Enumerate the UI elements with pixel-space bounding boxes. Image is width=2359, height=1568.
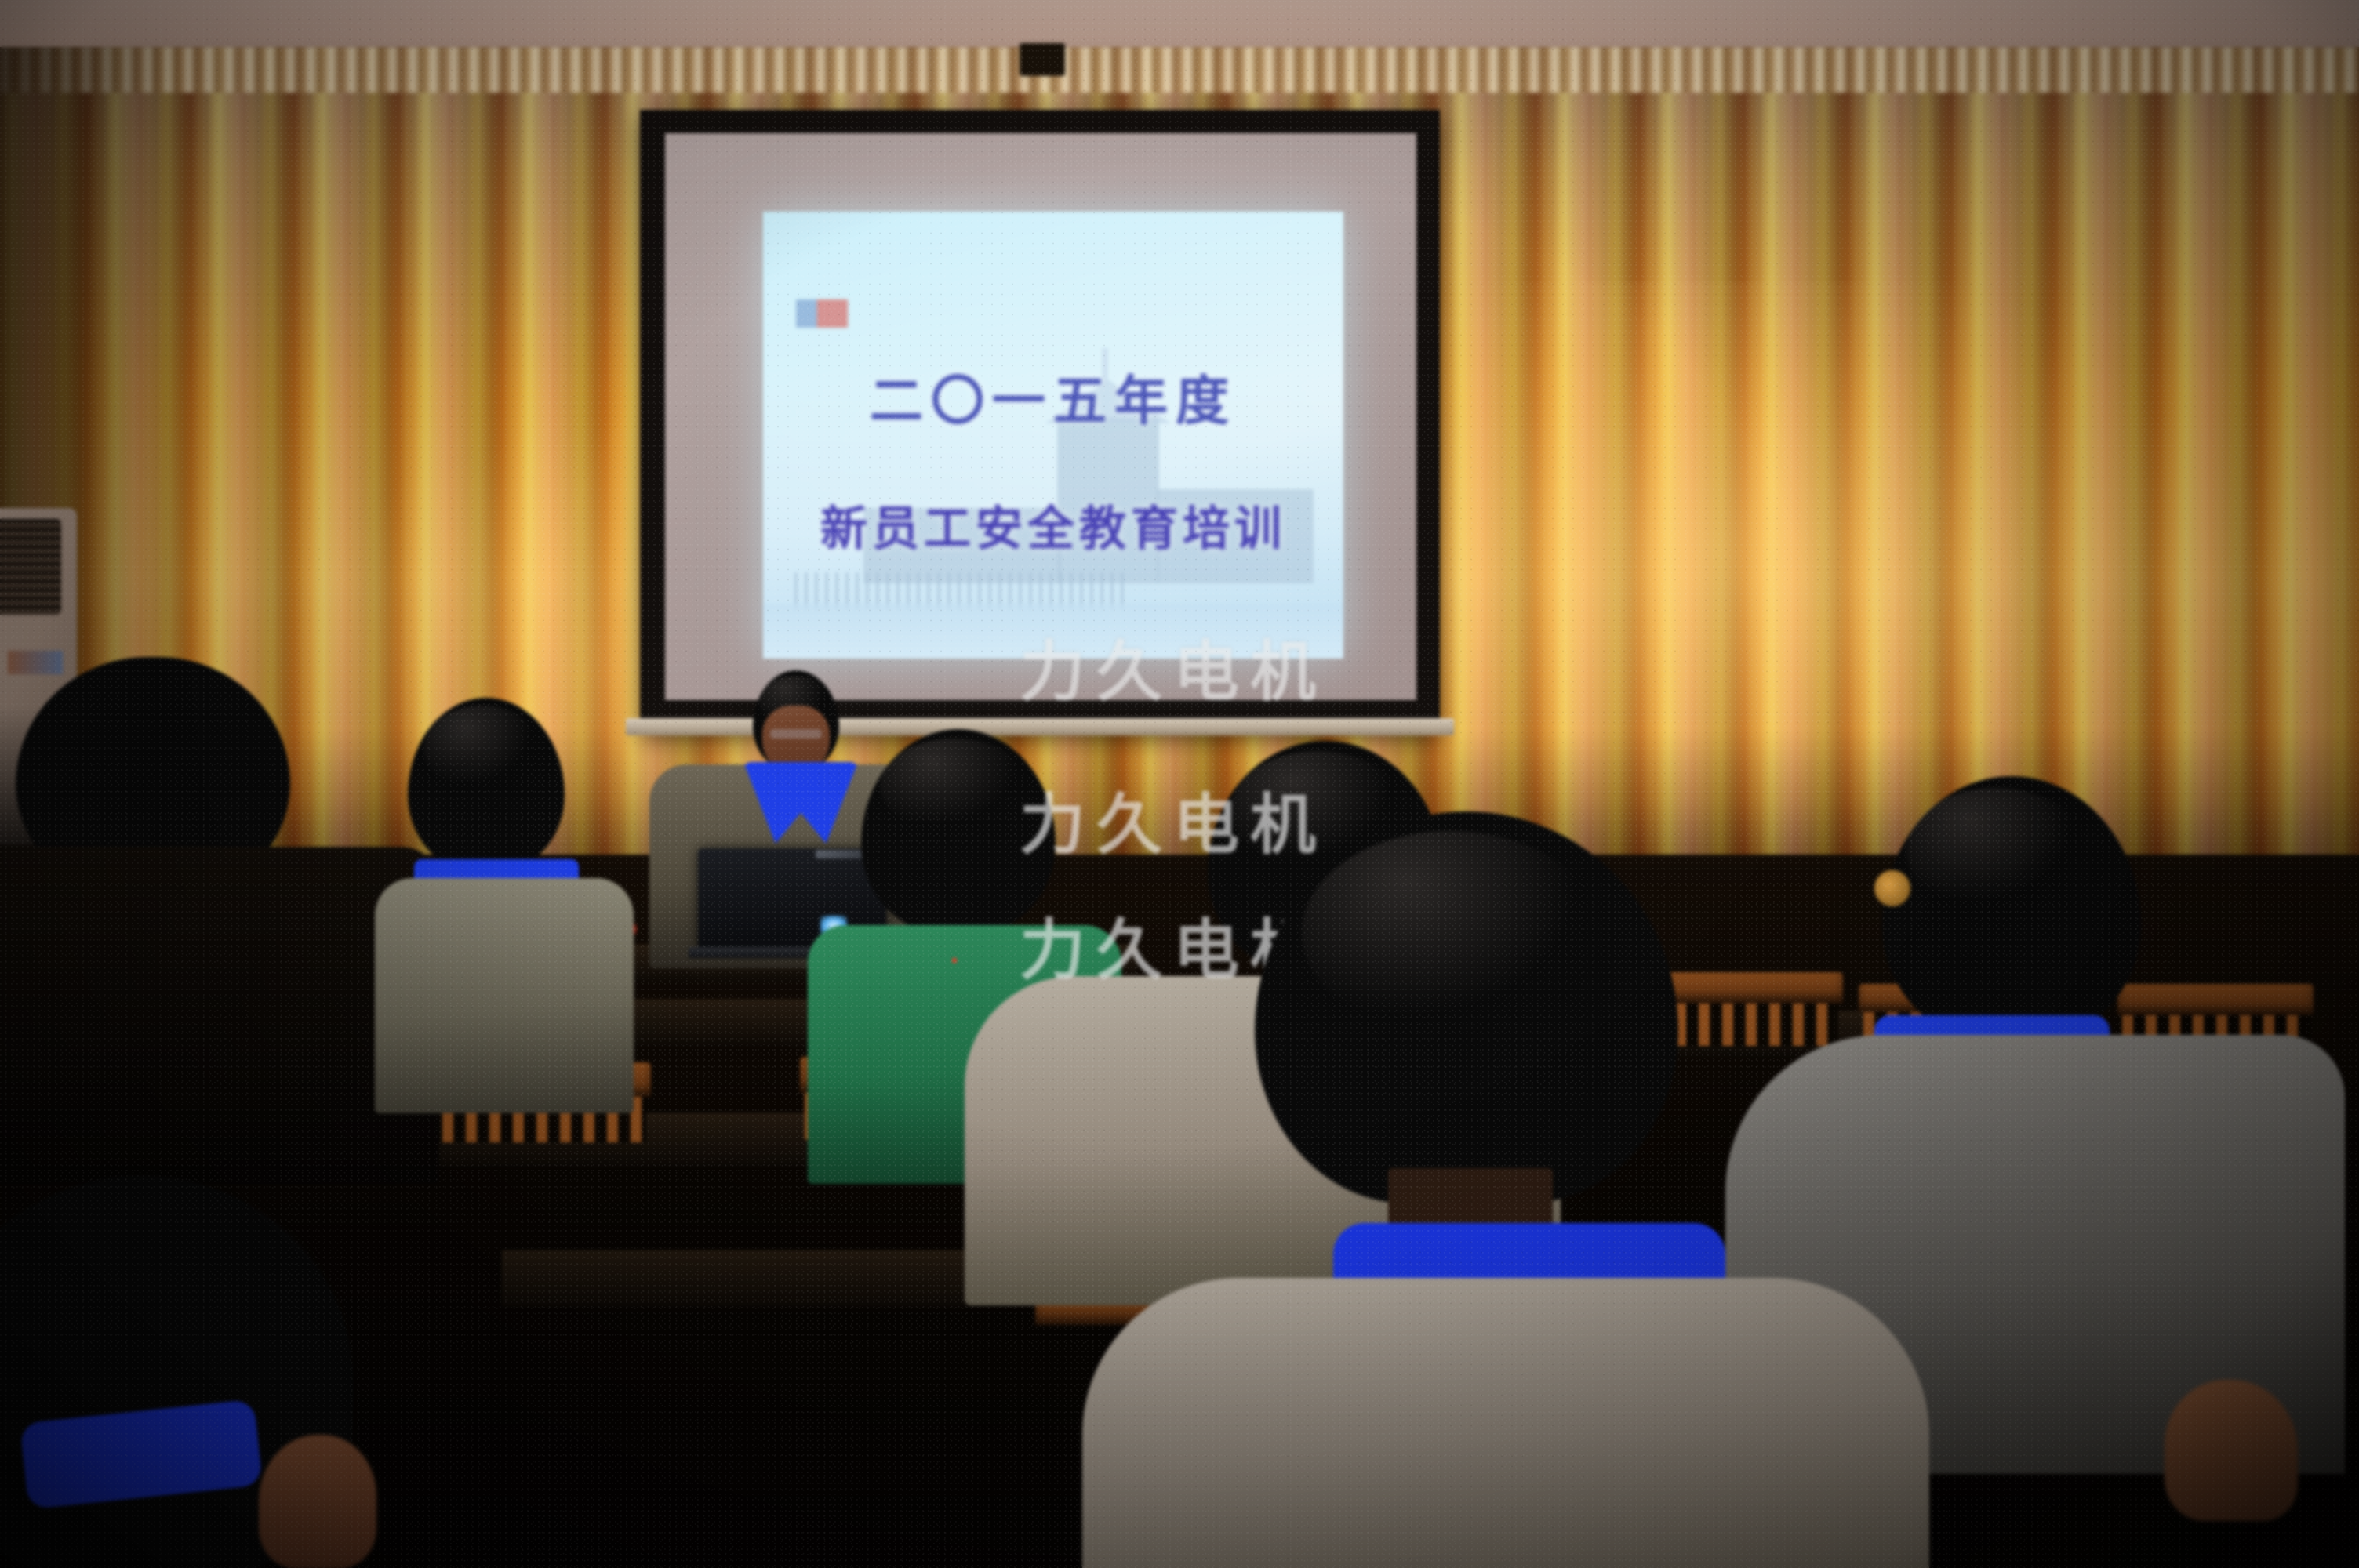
presenter-hair-highlight [759, 676, 831, 726]
slide-ground [763, 604, 1343, 659]
slide-flag-icon [796, 299, 848, 328]
projection-screen-surface: 二〇一五年度 新员工安全教育培训 [665, 133, 1416, 700]
chair [2117, 984, 2314, 1015]
slide-title-year: 二〇一五年度 [763, 358, 1343, 435]
attendee-torso [0, 847, 439, 1184]
attendee-hair-highlight [1906, 788, 2086, 913]
glasses-icon [1874, 870, 1910, 906]
curtain-top-ruffle [0, 47, 2359, 93]
air-conditioner-label [8, 651, 63, 674]
ceiling-rail-device-icon [1020, 43, 1065, 76]
attendee-hand [259, 1435, 376, 1568]
slide-content: 二〇一五年度 新员工安全教育培训 [763, 212, 1343, 659]
attendee-hair-highlight [423, 706, 541, 792]
chair [1647, 972, 1843, 1004]
photo-scene: 二〇一五年度 新员工安全教育培训 [0, 0, 2359, 1568]
attendee-torso [1082, 1278, 1929, 1568]
slide-title-subject: 新员工安全教育培训 [763, 491, 1343, 559]
projection-screen-frame: 二〇一五年度 新员工安全教育培训 [640, 110, 1440, 733]
chair-back-slats [1652, 1004, 1838, 1046]
attendee-hair-highlight [1302, 831, 1600, 1035]
air-conditioner-grille-icon [0, 519, 61, 615]
glasses-icon [770, 729, 822, 739]
attendee-hair-highlight [880, 739, 1029, 833]
attendee-torso [375, 878, 634, 1113]
attendee-hand [2165, 1380, 2298, 1521]
laser-pointer-dot-icon [952, 958, 957, 963]
projection-screen-bottom-bar [626, 718, 1454, 735]
